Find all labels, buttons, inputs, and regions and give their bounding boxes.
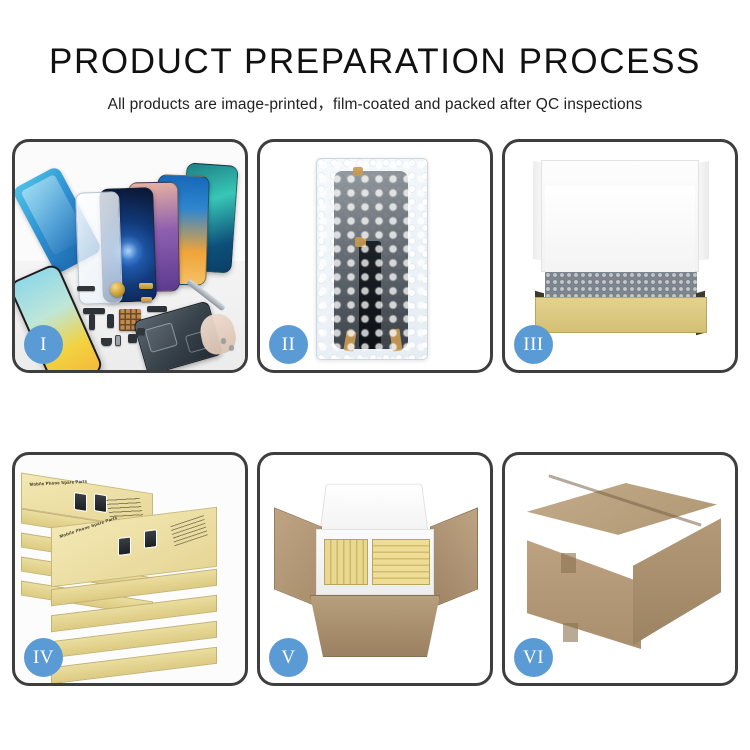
carton-tape-icon [563,623,578,642]
carton-tape-icon [561,553,576,573]
bubble-wrap-bag [316,158,428,360]
flex-cable-icon [128,334,137,343]
box-label-phone-icon [118,536,131,556]
carton-flap-right [430,507,478,608]
carton-right-face [633,513,721,645]
flex-cable-icon [89,314,95,330]
step-badge-5: V [269,638,308,677]
box-front-panel [535,297,707,333]
flex-cable-icon [107,314,114,328]
box-label-text: Mobile Phone Spare Parts [29,479,88,487]
step-badge-2: II [269,325,308,364]
step-badge-1: I [24,325,63,364]
chip-icon [139,283,153,289]
step-badge-3: III [514,325,553,364]
step-panel-2: II [257,139,493,373]
screw-icon [229,345,234,350]
box-label-phone-icon [94,493,107,513]
box-label-phone-icon [144,529,157,549]
box-label-phone-icon [74,492,87,512]
tape-icon [355,237,366,247]
flex-cable-icon [147,306,167,312]
screw-icon [221,338,226,343]
gold-coil-icon [110,282,125,297]
box-label-lines [170,514,208,546]
step-panel-4: Mobile Phone Spare Parts Mobile Phone Sp… [12,452,248,686]
page-title: PRODUCT PREPARATION PROCESS [0,42,750,82]
chip-icon [77,286,95,291]
process-step-grid: I II [12,139,738,686]
yellow-boxes-group [372,539,430,585]
bubble-wrap-fill [545,272,697,298]
flex-cable-icon [83,308,105,314]
chip-icon [115,335,121,346]
carton-front [310,595,440,657]
step-panel-3: III [502,139,738,373]
step-badge-6: VI [514,638,553,677]
step-panel-5: V [257,452,493,686]
product-preparation-infographic: PRODUCT PREPARATION PROCESS All products… [0,0,750,750]
tape-icon [353,167,363,176]
chip-icon [141,297,152,302]
step-panel-1: I [12,139,248,373]
page-subtitle: All products are image-printed，film-coat… [0,92,750,114]
step-panel-6: VI [502,452,738,686]
header: PRODUCT PREPARATION PROCESS All products… [0,0,750,114]
step-badge-4: IV [24,638,63,677]
yellow-boxes-group [324,539,368,585]
chip-icon [101,338,112,346]
carton-flap-left [274,507,322,608]
foam-sheet [545,186,695,276]
chip-icon [137,328,145,335]
wrapped-part-core [359,241,381,349]
carton-left-face [527,521,641,649]
